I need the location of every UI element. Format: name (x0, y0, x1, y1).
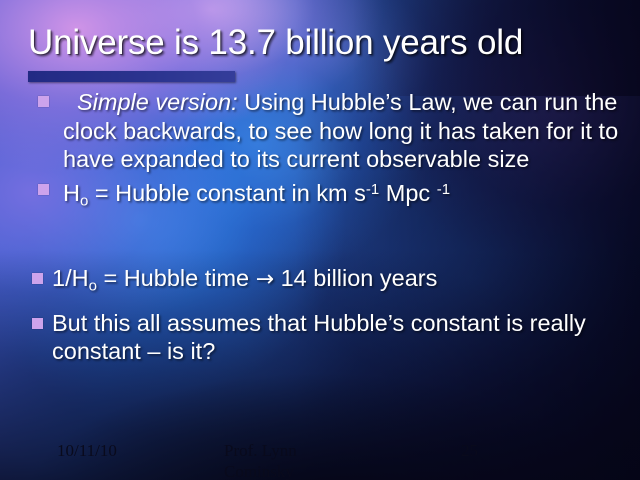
bullet-3-symbol: 1/H (52, 265, 89, 291)
bullet-item-3: 1/Ho = Hubble time → 14 billion years (0, 264, 640, 301)
bullet-2-mid: Mpc (379, 180, 436, 206)
title-underline-bar (28, 71, 235, 82)
bullet-text-3: 1/Ho = Hubble time → 14 billion years (52, 264, 640, 301)
slide-title: Universe is 13.7 billion years old (28, 22, 628, 64)
bullet-2-symbol: H (63, 180, 80, 206)
bullet-text-1: Simple version: Using Hubble’s Law, we c… (63, 88, 640, 174)
bullet-text-4: But this all assumes that Hubble’s const… (52, 309, 640, 366)
bullet-2-body: = Hubble constant in km s (88, 180, 366, 206)
bullet-3-body: = Hubble time (97, 265, 256, 291)
slide-body: Simple version: Using Hubble’s Law, we c… (0, 88, 640, 366)
footer-date: 10/11/10 (57, 440, 117, 461)
bullet-3-subscript: o (89, 277, 97, 294)
bullet-item-1: Simple version: Using Hubble’s Law, we c… (0, 88, 640, 174)
bullet-marker-icon (32, 318, 43, 329)
bullet-2-superscript-2: -1 (437, 181, 450, 198)
footer-author-line1: Prof. Lynn (224, 441, 297, 460)
slide: Universe is 13.7 billion years old Simpl… (0, 0, 640, 480)
bullet-text-2: Ho = Hubble constant in km s-1 Mpc -1 (63, 176, 640, 216)
bullet-item-4: But this all assumes that Hubble’s const… (0, 309, 640, 366)
right-arrow-icon: → (256, 267, 274, 292)
bullet-marker-icon (38, 184, 49, 195)
bullet-3-tail: 14 billion years (274, 265, 437, 291)
footer-slide-number: 25 (461, 440, 478, 461)
footer-author: Prof. LynnCominsky (224, 440, 394, 480)
bullet-marker-icon (32, 273, 43, 284)
bullet-marker-icon (38, 96, 49, 107)
bullet-2-superscript-1: -1 (366, 181, 379, 198)
bullet-1-emphasis: Simple version: (77, 89, 238, 115)
slide-footer: 10/11/10 Prof. LynnCominsky 25 (0, 432, 640, 480)
footer-author-line2: Cominsky (224, 461, 394, 480)
bullet-item-2: Ho = Hubble constant in km s-1 Mpc -1 (0, 176, 640, 216)
